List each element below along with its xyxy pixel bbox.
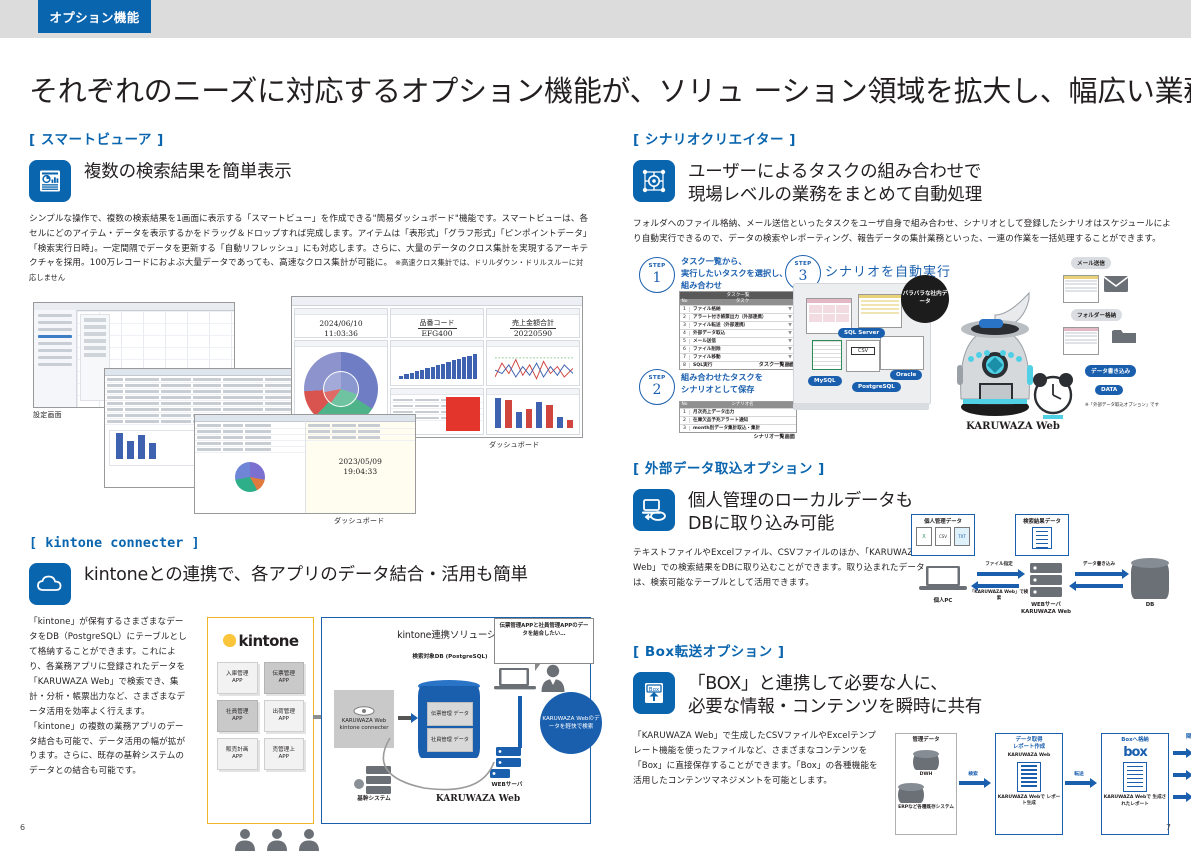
caption-dashboard-2: ダッシュボード <box>334 516 384 526</box>
app-label: 入庫管理 <box>226 671 248 678</box>
arrow-box-search <box>959 781 985 785</box>
app-sub: APP <box>232 678 243 685</box>
step-badge-2: STEP 2 <box>639 369 675 405</box>
box-panel2-title: データ取得 レポート作成 <box>996 734 1062 751</box>
external-heading-line2: DBに取り込み可能 <box>688 513 913 536</box>
web-server-label: WEBサーバ <box>1019 600 1073 608</box>
scenario-row: 1月次売上データ出力 <box>680 408 796 416</box>
kintone-heading: kintoneとの連携で、各アプリのデータ結合・活用も簡単 <box>84 563 528 587</box>
smart-viewer-screenshots: 設定画面 <box>29 296 589 531</box>
arrow-db-read <box>1075 584 1123 588</box>
arrow-search-result <box>977 584 1019 588</box>
arrow-data-write <box>1075 572 1123 576</box>
box-panel2-caption: KARUWAZA Webで レポート生成 <box>996 795 1062 807</box>
step-1-number: 1 <box>653 271 662 285</box>
laptop-icon <box>494 666 536 692</box>
user-icon <box>234 827 256 851</box>
box-upload-icon: Box <box>633 672 675 714</box>
dash-date-1: 2024/06/10 <box>319 319 362 329</box>
kintone-diagram: 「kintone」が保有するさまざまなデータをDB（PostgreSQL）にテー… <box>29 615 589 840</box>
box-heading-row: Box 「BOX」と連携して必要な人に、 必要な情報・コンテンツを瞬時に共有 <box>633 672 1173 719</box>
scenario-table-subhead: No シナリオ名 <box>680 402 796 408</box>
kintone-users-group <box>234 827 320 851</box>
task-row: 1ファイル格納▼ <box>680 305 796 313</box>
label-mail-send: メール送信 <box>1071 257 1111 269</box>
data-import-icon <box>633 489 675 531</box>
smart-viewer-heading-row: 複数の検索結果を簡単表示 <box>29 160 589 202</box>
category-tab-label: オプション機能 <box>49 7 139 26</box>
db-label: DB <box>1127 602 1173 608</box>
robot-caption: KARUWAZA Web <box>948 421 1078 432</box>
category-tab: オプション機能 <box>38 0 151 33</box>
kintone-highlight-circle: KARUWAZA Webのデータを軽快で検索 <box>540 692 602 754</box>
dash-kpi2-value: EFG400 <box>422 329 453 338</box>
app-label: 伝票管理 <box>273 671 295 678</box>
arrow-file-select-label: ファイル指定 <box>973 561 1025 567</box>
label-data: DATA <box>1095 385 1123 395</box>
step-3-number: 3 <box>799 269 808 283</box>
file-type-txt: TXT <box>954 527 970 546</box>
kintone-flow-loop <box>362 736 512 796</box>
kintone-app: 社員管理 APP <box>217 700 258 732</box>
app-label: 社員管理 <box>226 709 248 716</box>
user-avatar-icon <box>540 662 566 692</box>
kintone-app: 販売計画 APP <box>217 738 258 770</box>
page-number-right: 7 <box>1166 823 1171 832</box>
caption-settings: 設定画面 <box>33 410 62 420</box>
screenshot-dashboard-2: 2023/05/09 19:04:33 <box>194 414 416 514</box>
external-section-title: [ 外部データ取込オプション ] <box>633 457 1173 477</box>
external-body: テキストファイルやExcelファイル、CSVファイルのほか、「KARUWAZA … <box>633 546 933 590</box>
section-external-data: [ 外部データ取込オプション ] <box>633 457 1173 633</box>
folder-icon <box>1111 327 1137 345</box>
right-column: [ シナリオクリエイター ] <box>633 128 1173 845</box>
gear-network-icon <box>633 160 675 202</box>
app-sub: APP <box>278 716 289 723</box>
box-heading-line1: 「BOX」と連携して必要な人に、 <box>688 673 982 696</box>
arrow-file-select <box>977 572 1019 576</box>
external-heading-row: 個人管理のローカルデータも DBに取り込み可能 <box>633 489 933 536</box>
scenario-heading-line2: 現場レベルの業務をまとめて自動処理 <box>688 184 982 207</box>
kintone-app-grid: 入庫管理 APP 伝票管理 APP 社員管理 APP 出荷管理 <box>208 650 313 770</box>
db-table-1: 伝票管理 データ <box>427 702 473 726</box>
file-type-excel: X <box>916 527 932 546</box>
app-sub: APP <box>278 754 289 761</box>
kintone-app: 売管理上 APP <box>264 738 305 770</box>
arrow-db-bidirectional <box>518 696 522 748</box>
db-cylinder-icon <box>1131 558 1169 602</box>
step-1-text: タスク一覧から、 実行したいタスクを選択し、 組み合わせ <box>681 255 793 292</box>
task-col-name: タスク <box>689 299 796 305</box>
kintone-app: 入庫管理 APP <box>217 662 258 694</box>
caption-dashboard-1: ダッシュボード <box>489 440 539 450</box>
scenario-table-caption: シナリオ一覧画面 <box>719 433 795 440</box>
web-server-sub: KARUWAZA Web <box>1011 609 1081 615</box>
section-kintone-connecter: [ kintone connecter ] kintoneとの連携で、各アプリの… <box>29 535 589 840</box>
user-icon <box>266 827 288 851</box>
box-body: 「KARUWAZA Web」で生成したCSVファイルやExcelテンプレート機能… <box>633 729 883 845</box>
dashboard-report-icon <box>29 160 71 202</box>
step-2-text: 組み合わせたタスクを シナリオとして保存 <box>681 371 801 396</box>
local-data-panel: 個人管理データ X CSV TXT <box>911 514 975 556</box>
scenario-row: 2在庫欠品予兆アラート通知 <box>680 416 796 424</box>
app-sub: APP <box>232 754 243 761</box>
dash-kpi3-value: 20220590 <box>514 329 552 338</box>
dash-time-2: 19:04:33 <box>343 467 377 477</box>
box-panel-share: 関係者へ共有 <box>1173 731 1191 806</box>
web-server-icon <box>1029 562 1063 598</box>
kintone-logo-text: kintone <box>239 632 299 650</box>
page-number-left: 6 <box>20 823 25 832</box>
user-icon <box>298 827 320 851</box>
dash-kpi-total: 売上金額合計 20220590 <box>486 308 580 338</box>
brochure-page: オプション機能 それぞれのニーズに対応するオプション機能が、ソリュ ーション領域… <box>0 0 1191 842</box>
personal-pc-icon <box>919 564 967 594</box>
result-data-label: 検索結果データ <box>1016 515 1068 525</box>
kintone-section-title: [ kintone connecter ] <box>29 535 589 551</box>
file-type-csv: CSV <box>935 527 951 546</box>
dash-date-2: 2023/05/09 <box>339 457 382 467</box>
connector-label: KARUWAZA Web kintone connecter <box>334 718 394 732</box>
personal-pc-label: 個人PC <box>917 596 969 604</box>
left-column: [ スマートビューア ] 複 <box>29 128 589 840</box>
box-panel3-brand: box <box>1102 745 1168 760</box>
scenario-footnote: ※「外部データ取込オプション」です <box>1085 403 1159 409</box>
dash-kpi-code: 品番コード EFG400 <box>390 308 484 338</box>
external-data-diagram: 個人管理データ X CSV TXT 検索結果データ 個人PC <box>903 514 1183 632</box>
folder-doc-thumb <box>1063 327 1099 355</box>
dash-kpi2-label: 品番コード <box>418 319 457 329</box>
external-heading: 個人管理のローカルデータも DBに取り込み可能 <box>688 489 913 536</box>
kintone-db-caption: 検索対象DB (PostgreSQL) <box>408 654 492 661</box>
section-smart-viewer: [ スマートビューア ] 複 <box>29 128 589 531</box>
connector-icon <box>353 706 375 716</box>
box-transfer-diagram: 管理データ DWH <box>891 729 1173 845</box>
label-data-write: データ書き込み <box>1085 365 1136 377</box>
arrow-box-search-label: 検索 <box>955 770 991 777</box>
box-panel2-brand: KARUWAZA Web <box>996 753 1062 759</box>
section-scenario-creator: [ シナリオクリエイター ] <box>633 128 1173 443</box>
dash-line-and-bars <box>486 340 580 435</box>
kintone-app: 伝票管理 APP <box>264 662 305 694</box>
dash-kpi3-label: 売上金額合計 <box>510 319 556 329</box>
dash-time-1: 11:03:36 <box>324 329 358 338</box>
app-label: 出荷管理 <box>273 709 295 716</box>
result-data-panel: 検索結果データ <box>1015 514 1069 556</box>
box-panel3-caption: KARUWAZA Webで 生成されたレポート <box>1102 795 1168 807</box>
box-panel1-item1: DWH <box>913 772 939 778</box>
app-label: 販売計画 <box>226 747 248 754</box>
app-sub: APP <box>278 678 289 685</box>
server-cabinet-base <box>793 403 929 410</box>
box-heading-line2: 必要な情報・コンテンツを瞬時に共有 <box>688 696 982 719</box>
scenario-heading-row: ユーザーによるタスクの組み合わせで 現場レベルの業務をまとめて自動処理 <box>633 160 1173 207</box>
scenario-section-title: [ シナリオクリエイター ] <box>633 128 1173 148</box>
task-row: 3ファイル転送（外部連携）▼ <box>680 321 796 329</box>
scenario-row: 3month別データ集計取込・集計 <box>680 424 796 432</box>
scenario-diagram: STEP 1 タスク一覧から、 実行したいタスクを選択し、 組み合わせ タスク一… <box>633 253 1173 443</box>
task-row: 5メール送信▼ <box>680 337 796 345</box>
box-panel-managed-data: 管理データ DWH <box>895 733 957 835</box>
task-table-caption: タスク一覧画面 <box>719 361 795 368</box>
kintone-app: 出荷管理 APP <box>264 700 305 732</box>
box-heading: 「BOX」と連携して必要な人に、 必要な情報・コンテンツを瞬時に共有 <box>688 672 982 719</box>
arrow-data-write-label: データ書き込み <box>1071 561 1127 567</box>
task-table-title: タスク一覧 <box>680 292 796 299</box>
local-data-label: 個人管理データ <box>912 515 974 525</box>
task-row: 6ファイル削除▼ <box>680 345 796 353</box>
box-panel-report: データ取得 レポート作成 KARUWAZA Web KARUWAZA Webで … <box>995 733 1063 835</box>
arrow-connector-to-db <box>398 716 412 720</box>
task-col-idx: No <box>680 299 689 305</box>
step-badge-1: STEP 1 <box>639 257 675 293</box>
cloud-icon <box>29 563 71 605</box>
clock-icon <box>1031 373 1075 421</box>
box-panel4-title: 関係者へ共有 <box>1173 731 1191 741</box>
mail-doc-thumb <box>1063 275 1099 303</box>
scenario-col-idx: No <box>680 402 689 408</box>
app-label: 売管理上 <box>273 747 295 754</box>
scenario-list-table: No シナリオ名 1月次売上データ出力 2在庫欠品予兆アラート通知 3month… <box>679 401 797 433</box>
top-bar <box>0 0 1191 38</box>
dash-kpi-datetime: 2024/06/10 11:03:36 <box>294 308 388 338</box>
smart-viewer-section-title: [ スマートビューア ] <box>29 128 589 148</box>
scenario-heading-line1: ユーザーによるタスクの組み合わせで <box>688 161 982 184</box>
task-table-subhead: No タスク <box>680 299 796 305</box>
section-box-transfer: [ Box転送オプション ] Box 「BOX」と連携して必要な人に、 必要な情… <box>633 640 1173 845</box>
box-panel-store: Boxへ格納 box KARUWAZA Webで 生成されたレポート <box>1101 733 1169 835</box>
box-panel1-title: 管理データ <box>896 734 956 744</box>
task-row: 2アラート付き帳票出力（外部連携）▼ <box>680 313 796 321</box>
box-section-title: [ Box転送オプション ] <box>633 640 1173 660</box>
svg-text:Box: Box <box>649 687 660 693</box>
scenario-body: フォルダへのファイル格納、メール送信といったタスクをユーザ自身で組み合わせ、シナ… <box>633 217 1173 247</box>
kintone-solution-panel: kintone連携ソリューション KARUWAZA Web kintone co… <box>321 617 591 824</box>
arrow-box-transfer-label: 転送 <box>1061 770 1097 777</box>
kintone-heading-row: kintoneとの連携で、各アプリのデータ結合・活用も簡単 <box>29 563 589 605</box>
kintone-speech-bubble: 伝票管理APPと社員管理APPのデータを結合したい… <box>494 618 594 664</box>
scenario-col-name: シナリオ名 <box>689 402 796 408</box>
kintone-body: 「kintone」が保有するさまざまなデータをDB（PostgreSQL）にテー… <box>29 615 189 779</box>
scenario-heading: ユーザーによるタスクの組み合わせで 現場レベルの業務をまとめて自動処理 <box>688 160 982 207</box>
kintone-logo: kintone <box>208 632 313 650</box>
task-row: 4外部データ取込▼ <box>680 329 796 337</box>
step-2-number: 2 <box>653 383 662 397</box>
envelope-icon <box>1103 275 1129 293</box>
box-panel1-item2: ERPなど各種既存システム <box>898 805 954 811</box>
smart-viewer-body: シンプルな操作で、複数の検索結果を1画面に表示する「スマートビュー」を作成できる… <box>29 212 589 286</box>
app-sub: APP <box>232 716 243 723</box>
task-row: 7ファイル移動▼ <box>680 353 796 361</box>
box-panel3-title: Boxへ格納 <box>1102 734 1168 744</box>
external-heading-line1: 個人管理のローカルデータも <box>688 490 913 513</box>
kintone-logo-dot <box>223 634 236 647</box>
kintone-apps-panel: kintone 入庫管理 APP 伝票管理 APP 社員管理 <box>207 617 314 824</box>
task-list-table: タスク一覧 No タスク 1ファイル格納▼ 2アラート付き帳票出力（外部連携）▼… <box>679 291 797 370</box>
arrow-box-transfer <box>1065 781 1091 785</box>
label-folder-store: フォルダー格納 <box>1071 309 1122 321</box>
page-headline: それぞれのニーズに対応するオプション機能が、ソリュ ーション領域を拡大し、幅広い… <box>29 68 1169 110</box>
smart-viewer-heading: 複数の検索結果を簡単表示 <box>84 160 292 184</box>
